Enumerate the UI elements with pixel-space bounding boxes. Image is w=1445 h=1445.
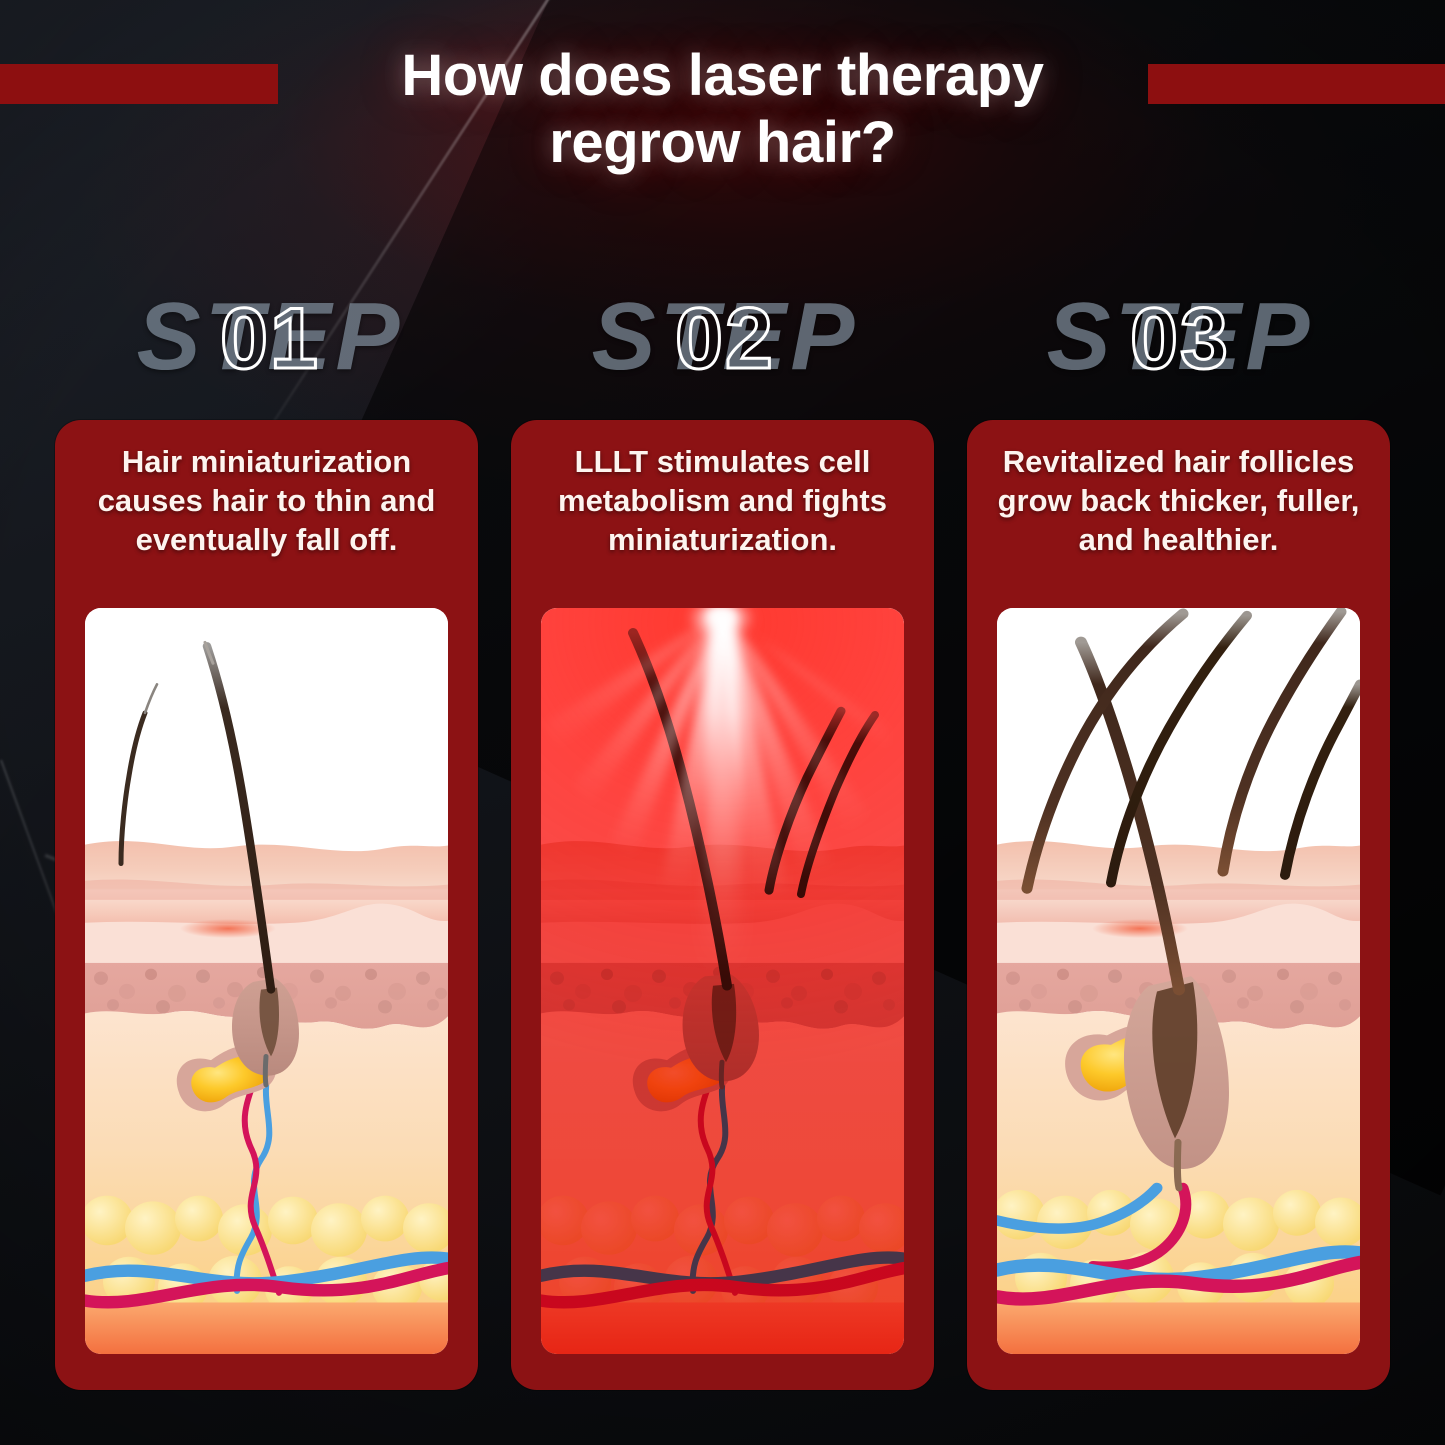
step-caption-03: Revitalized hair follicles grow back thi… <box>981 442 1376 559</box>
laser-beam-rays <box>541 608 904 1354</box>
step-number-03: 03 <box>995 290 1365 389</box>
step-card-01[interactable]: Hair miniaturization causes hair to thin… <box>55 420 478 1390</box>
step-header-02: STEP 02 <box>540 282 910 402</box>
step-number-01: 01 <box>85 290 455 389</box>
step-figure-01 <box>85 608 448 1354</box>
page-title-line-2: regrow hair? <box>300 109 1145 176</box>
skin-cross-section-03 <box>997 608 1360 1354</box>
step-header-03: STEP 03 <box>995 282 1365 402</box>
step-caption-02: LLLT stimulates cell metabolism and figh… <box>525 442 920 559</box>
step-number-02: 02 <box>540 290 910 389</box>
step-caption-01: Hair miniaturization causes hair to thin… <box>69 442 464 559</box>
step-figure-02 <box>541 608 904 1354</box>
step-header-01: STEP 01 <box>85 282 455 402</box>
page-title-line-1: How does laser therapy <box>300 42 1145 109</box>
step-figure-03 <box>997 608 1360 1354</box>
step-card-02[interactable]: LLLT stimulates cell metabolism and figh… <box>511 420 934 1390</box>
title-block: How does laser therapy regrow hair? <box>0 0 1445 215</box>
page-title: How does laser therapy regrow hair? <box>0 42 1445 177</box>
step-card-03[interactable]: Revitalized hair follicles grow back thi… <box>967 420 1390 1390</box>
skin-cross-section-01 <box>85 608 448 1354</box>
